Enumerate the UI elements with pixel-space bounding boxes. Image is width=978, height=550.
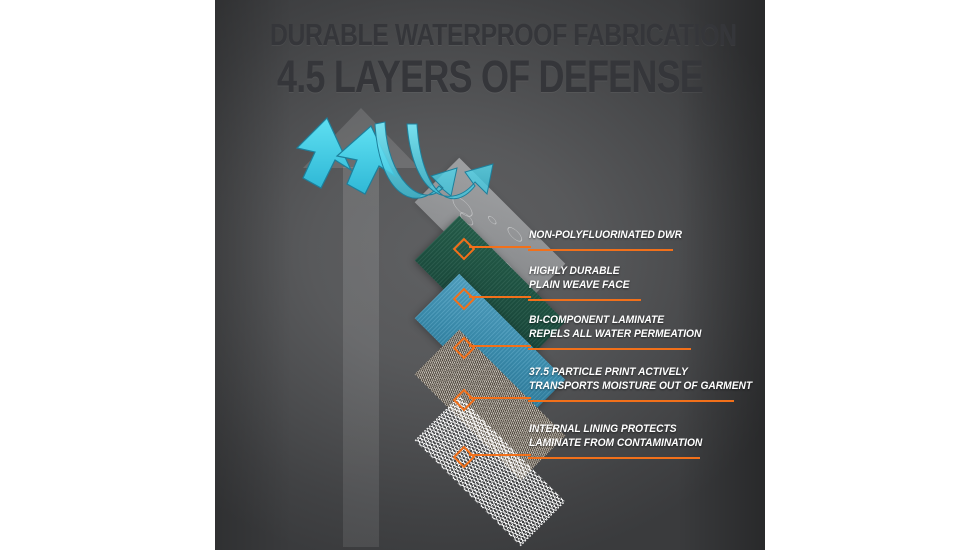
callout-label-laminate-line-2: REPELS ALL WATER PERMEATION bbox=[529, 328, 701, 342]
callout-label-internal-lining-line-1: INTERNAL LINING PROTECTS bbox=[529, 423, 677, 437]
callout-label-plain-weave-line-2: PLAIN WEAVE FACE bbox=[529, 279, 629, 293]
callout-underline bbox=[528, 348, 691, 350]
callout-leader-line bbox=[469, 345, 531, 347]
callout-underline bbox=[528, 457, 700, 459]
callout-leader-line bbox=[469, 246, 531, 248]
callout-underline bbox=[528, 400, 734, 402]
headline-line-1: DURABLE WATERPROOF FABRICATION bbox=[270, 18, 710, 52]
callout-label-dwr-line-1: NON-POLYFLUORINATED DWR bbox=[529, 229, 682, 243]
callout-leader-line bbox=[469, 454, 531, 456]
headline-block: DURABLE WATERPROOF FABRICATION 4.5 LAYER… bbox=[215, 18, 765, 100]
callout-underline bbox=[528, 249, 673, 251]
callout-label-laminate-line-1: BI-COMPONENT LAMINATE bbox=[529, 314, 664, 328]
callout-label-particle-print-line-2: TRANSPORTS MOISTURE OUT OF GARMENT bbox=[529, 380, 752, 394]
callout-leader-line bbox=[469, 296, 531, 298]
headline-line-2: 4.5 LAYERS OF DEFENSE bbox=[270, 54, 710, 100]
callout-label-internal-lining-line-2: LAMINATE FROM CONTAMINATION bbox=[529, 437, 702, 451]
infographic-panel: DURABLE WATERPROOF FABRICATION 4.5 LAYER… bbox=[215, 0, 765, 550]
callout-label-particle-print-line-1: 37.5 PARTICLE PRINT ACTIVELY bbox=[529, 366, 688, 380]
callout-leader-line bbox=[469, 397, 531, 399]
callout-label-plain-weave-line-1: HIGHLY DURABLE bbox=[529, 265, 620, 279]
infographic-canvas: DURABLE WATERPROOF FABRICATION 4.5 LAYER… bbox=[0, 0, 978, 550]
callout-underline bbox=[528, 299, 641, 301]
